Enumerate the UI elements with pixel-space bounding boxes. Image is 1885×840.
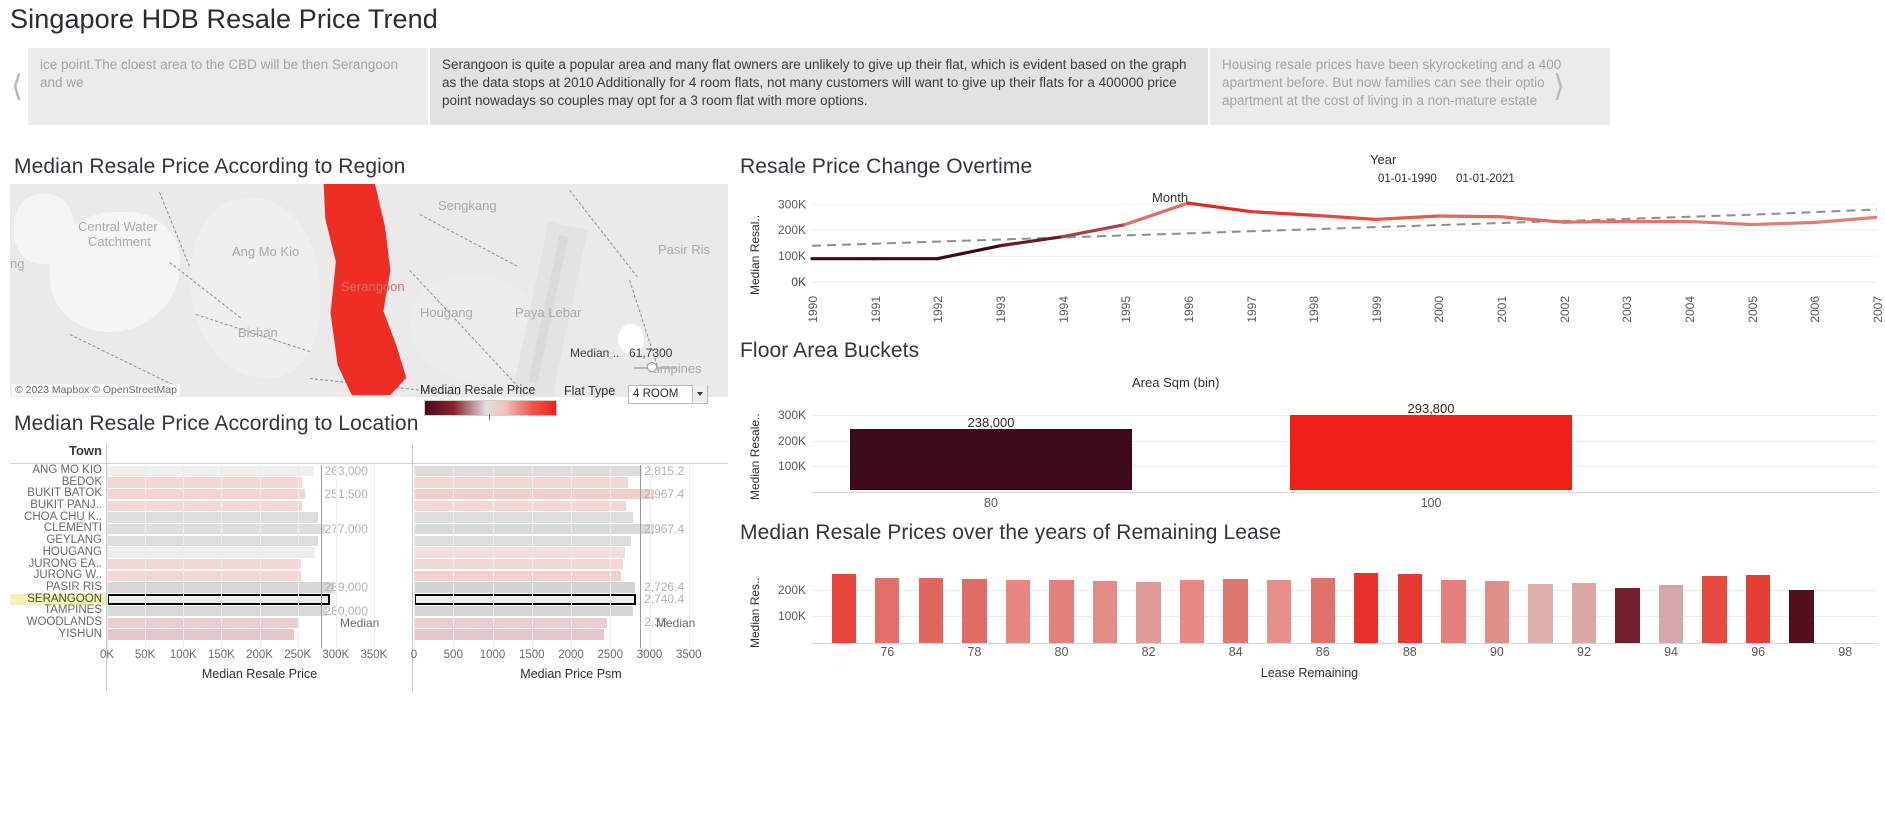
bar-fill: [414, 606, 633, 616]
bar-fill: [414, 489, 654, 499]
bar[interactable]: [1180, 580, 1204, 643]
map-attribution: © 2023 Mapbox © OpenStreetMap: [12, 384, 180, 396]
bar-fill: [107, 489, 305, 499]
bar[interactable]: [1789, 590, 1813, 643]
left-axis-title: Median Resale Price: [107, 667, 412, 681]
x-tick-label: 1991: [869, 296, 883, 323]
line-segment: [1564, 221, 1627, 222]
bar[interactable]: [1290, 415, 1572, 490]
town-label[interactable]: ANG MO KIO: [10, 465, 106, 477]
gridline: [336, 465, 337, 648]
y-tick-label: 100K: [778, 249, 806, 263]
map-label: Pasir Ris: [658, 242, 710, 257]
y-tick-label: 100K: [754, 459, 806, 473]
x-tick-label: 1998: [1307, 296, 1321, 323]
axis-tick-label: 50K: [131, 649, 159, 661]
bar[interactable]: [919, 578, 943, 643]
axis-tick-label: 200K: [246, 649, 274, 661]
bar-fill: [414, 466, 642, 476]
map-label: Sengkang: [438, 198, 497, 213]
x-tick-label: 94: [1657, 645, 1685, 659]
bar-fill: [414, 477, 628, 487]
bar-fill: [107, 477, 302, 487]
axis-tick-label: 3500: [675, 649, 703, 661]
legend-median-label: Median ..: [570, 346, 619, 360]
bar-fill: [414, 559, 623, 569]
x-tick-label: 90: [1483, 645, 1511, 659]
bar-fill: [414, 536, 631, 546]
map-label: Hougang: [420, 305, 473, 320]
line-segment: [1313, 215, 1376, 219]
legend-median-value: 61,7300: [629, 346, 672, 360]
gridline: [493, 465, 494, 648]
town-column-header: Town: [10, 443, 106, 463]
axis-tick-label: 0K: [93, 649, 121, 661]
bar-fill: [107, 536, 318, 546]
axis-tick-label: 250K: [284, 649, 312, 661]
bar-fill: [107, 466, 314, 476]
x-tick-label: 1995: [1119, 296, 1133, 323]
bar-value-label: 251,500: [325, 487, 368, 501]
map-label: Paya Lebar: [515, 305, 582, 320]
bar-fill: [414, 618, 607, 628]
trend-line: [812, 210, 1877, 246]
map-label: Catchment: [88, 234, 151, 249]
median-range-slider[interactable]: [634, 362, 676, 373]
y-tick-label: 300K: [778, 197, 806, 211]
bar[interactable]: [1485, 581, 1509, 643]
floor-area-bar-chart[interactable]: 100K200K300K238,00080293,800100: [742, 392, 1877, 512]
bar-value-label: 263,000: [325, 464, 368, 478]
x-tick-label: 1997: [1245, 296, 1259, 323]
axis-tick-label: 3000: [636, 649, 664, 661]
line-segment: [1814, 217, 1877, 222]
bar[interactable]: [1746, 575, 1770, 643]
bar-value-label: 238,000: [850, 415, 1132, 430]
bar[interactable]: [1223, 579, 1247, 643]
axis-tick-label: 0: [400, 649, 428, 661]
color-gradient-legend[interactable]: [424, 400, 557, 416]
year-legend-max: 01-01-2021: [1456, 173, 1515, 185]
bar-fill: [107, 512, 318, 522]
bar[interactable]: [1093, 581, 1117, 643]
y-tick-label: 100K: [754, 609, 806, 623]
bar-value-label: 289,000: [325, 580, 368, 594]
gridline: [650, 465, 651, 648]
bar[interactable]: [1311, 578, 1335, 643]
line-segment: [1376, 216, 1439, 219]
gridline: [107, 465, 108, 648]
town-label[interactable]: PASIR RIS: [10, 582, 106, 594]
x-tick-label: 2003: [1620, 296, 1634, 323]
town-label[interactable]: BUKIT PANJ..: [10, 500, 106, 512]
bar-fill: [414, 512, 633, 522]
x-tick-label: 82: [1135, 645, 1163, 659]
bar[interactable]: [850, 429, 1132, 490]
map-label: Central Water: [78, 219, 158, 234]
bar[interactable]: [1267, 580, 1291, 643]
bar-value-label: 293,800: [1290, 401, 1572, 416]
bar[interactable]: [1441, 580, 1465, 643]
x-tick-label: 86: [1309, 645, 1337, 659]
chevron-right-icon[interactable]: ⟩: [1546, 72, 1572, 102]
bar-fill: [107, 594, 330, 604]
bar-fill: [414, 571, 621, 581]
x-tick-label: 2002: [1558, 296, 1572, 323]
dashboard-root: Singapore HDB Resale Price Trend ⟨ ice p…: [0, 0, 1885, 840]
bar-fill: [107, 629, 294, 639]
reference-line: [321, 465, 322, 648]
x-tick-label: 1994: [1057, 296, 1071, 323]
x-tick-label: 2006: [1808, 296, 1822, 323]
bar-fill: [107, 571, 301, 581]
flat-type-label: Flat Type: [564, 384, 615, 398]
map-label: ng: [10, 256, 24, 271]
gradient-marker-icon: [489, 414, 490, 420]
area-x-title: Area Sqm (bin): [1132, 375, 1219, 390]
year-legend-title: Year: [1370, 152, 1396, 167]
median-tag-left: Median: [340, 616, 379, 630]
lease-remaining-bar-chart[interactable]: 100K200K767880828486889092949698: [742, 553, 1877, 663]
map-label-serangoon: Serangoon: [341, 279, 405, 294]
line-segment: [1689, 221, 1752, 224]
town-label[interactable]: YISHUN: [10, 629, 106, 641]
x-tick-label: 80: [1047, 645, 1075, 659]
bar-fill: [107, 547, 315, 557]
x-tick-label: 76: [873, 645, 901, 659]
carousel-panel-active[interactable]: Serangoon is quite a popular area and ma…: [430, 48, 1208, 125]
bar[interactable]: [1049, 580, 1073, 643]
line-segment: [937, 246, 1000, 259]
y-tick-label: 200K: [778, 223, 806, 237]
y-tick-label: 200K: [754, 583, 806, 597]
town-bar-chart: Town ANG MO KIOBEDOKBUKIT BATOKBUKIT PAN…: [10, 443, 728, 691]
bar[interactable]: [1572, 583, 1596, 643]
bar[interactable]: [1136, 582, 1160, 643]
bar[interactable]: [832, 574, 856, 643]
flat-type-value: 4 ROOM: [633, 388, 678, 400]
slider-handle[interactable]: [647, 362, 657, 372]
bar-fill: [107, 618, 299, 628]
bar[interactable]: [1354, 573, 1378, 643]
gridline: [532, 465, 533, 648]
bar-fill: [107, 501, 302, 511]
page-title: Singapore HDB Resale Price Trend: [10, 4, 438, 35]
x-tick-label: 100: [1290, 496, 1572, 510]
line-segment: [1000, 237, 1063, 246]
gridline: [453, 465, 454, 648]
axis-tick-label: 2000: [557, 649, 585, 661]
lease-x-title: Lease Remaining: [742, 666, 1877, 680]
bar[interactable]: [1398, 574, 1422, 643]
header-divider: [10, 463, 728, 464]
line-section-title: Resale Price Change Overtime: [740, 155, 1032, 179]
line-segment: [1438, 216, 1501, 217]
town-label[interactable]: HOUGANG: [10, 547, 106, 559]
y-tick-label: 200K: [754, 434, 806, 448]
gridline: [610, 465, 611, 648]
bar[interactable]: [1006, 580, 1030, 643]
bar-fill: [107, 524, 325, 534]
gridline: [183, 465, 184, 648]
bar[interactable]: [1528, 584, 1552, 643]
x-tick-label: 2005: [1746, 296, 1760, 323]
map-label: Bishan: [238, 325, 278, 340]
axis-tick-label: 1000: [479, 649, 507, 661]
axis-tick-label: 2500: [596, 649, 624, 661]
lease-section-title: Median Resale Prices over the years of R…: [740, 521, 1281, 545]
town-section-title: Median Resale Price According to Locatio…: [14, 412, 419, 436]
bar[interactable]: [1615, 588, 1639, 643]
carousel-panel-prev[interactable]: ice point.The cloest area to the CBD wil…: [28, 48, 428, 125]
median-tag-right: Median: [656, 616, 695, 630]
chevron-left-icon[interactable]: ⟨: [4, 72, 30, 102]
x-tick-label: 88: [1396, 645, 1424, 659]
gridline: [221, 465, 222, 648]
y-tick-label: 300K: [754, 408, 806, 422]
gridline: [571, 465, 572, 648]
bar[interactable]: [875, 578, 899, 643]
x-tick-label: 80: [850, 496, 1132, 510]
axis-line: [812, 643, 1877, 644]
gridline: [260, 465, 261, 648]
bar-fill: [414, 582, 635, 592]
color-legend-title: Median Resale Price: [420, 383, 535, 397]
x-tick-label: 96: [1744, 645, 1772, 659]
gridline: [298, 465, 299, 648]
gridline: [145, 465, 146, 648]
axis-tick-label: 350K: [360, 649, 388, 661]
x-tick-label: 78: [960, 645, 988, 659]
x-tick-label: 1993: [994, 296, 1008, 323]
bar-fill: [107, 606, 327, 616]
axis-tick-label: 1500: [518, 649, 546, 661]
story-carousel: ⟨ ice point.The cloest area to the CBD w…: [0, 48, 1885, 125]
x-tick-label: 2001: [1495, 296, 1509, 323]
x-tick-label: 92: [1570, 645, 1598, 659]
x-tick-label: 1992: [931, 296, 945, 323]
axis-tick-label: 100K: [169, 649, 197, 661]
bar[interactable]: [962, 579, 986, 643]
map-section-title: Median Resale Price According to Region: [14, 155, 405, 179]
right-axis-title: Median Price Psm: [414, 667, 728, 681]
town-label-column: ANG MO KIOBEDOKBUKIT BATOKBUKIT PANJ..CH…: [10, 465, 106, 640]
bar-fill: [414, 524, 654, 534]
axis-tick-label: 150K: [207, 649, 235, 661]
axis-line: [812, 492, 1877, 493]
bar[interactable]: [1659, 585, 1683, 643]
year-legend-min: 01-01-1990: [1378, 173, 1437, 185]
axis-tick-label: 500: [439, 649, 467, 661]
gridline: [414, 465, 415, 648]
line-segment: [1752, 222, 1815, 224]
x-tick-label: 98: [1831, 645, 1859, 659]
bar-fill: [414, 547, 625, 557]
bar-value-label: 277,000: [325, 522, 368, 536]
flat-type-dropdown[interactable]: 4 ROOM: [628, 385, 708, 404]
x-tick-label: 1990: [806, 296, 820, 323]
area-section-title: Floor Area Buckets: [740, 339, 919, 363]
bar-fill: [414, 501, 626, 511]
x-tick-label: 1999: [1370, 296, 1384, 323]
x-tick-label: 2007: [1871, 296, 1885, 323]
resale-price-line-chart[interactable]: 0K100K200K300K0K199019911992199319941995…: [742, 188, 1877, 333]
line-segment: [1125, 203, 1188, 224]
bar-fill: [414, 629, 604, 639]
line-segment: [1251, 212, 1314, 216]
chevron-down-icon[interactable]: [692, 385, 707, 402]
axis-tick-label: 300K: [322, 649, 350, 661]
y-tick-label: 0K: [791, 275, 806, 289]
region-map[interactable]: Central Water Catchment ng Ang Mo Kio Se…: [10, 184, 728, 397]
town-label[interactable]: WOODLANDS: [10, 617, 106, 629]
x-tick-label: 84: [1222, 645, 1250, 659]
bar[interactable]: [1702, 576, 1726, 643]
x-tick-label: 2004: [1683, 296, 1697, 323]
map-water-body: [14, 194, 74, 264]
bar-fill: [107, 559, 301, 569]
bar-fill: [414, 594, 636, 604]
x-tick-label: 1996: [1182, 296, 1196, 323]
reference-line: [640, 465, 641, 648]
map-label: Ang Mo Kio: [232, 244, 299, 259]
x-tick-label: 2000: [1432, 296, 1446, 323]
